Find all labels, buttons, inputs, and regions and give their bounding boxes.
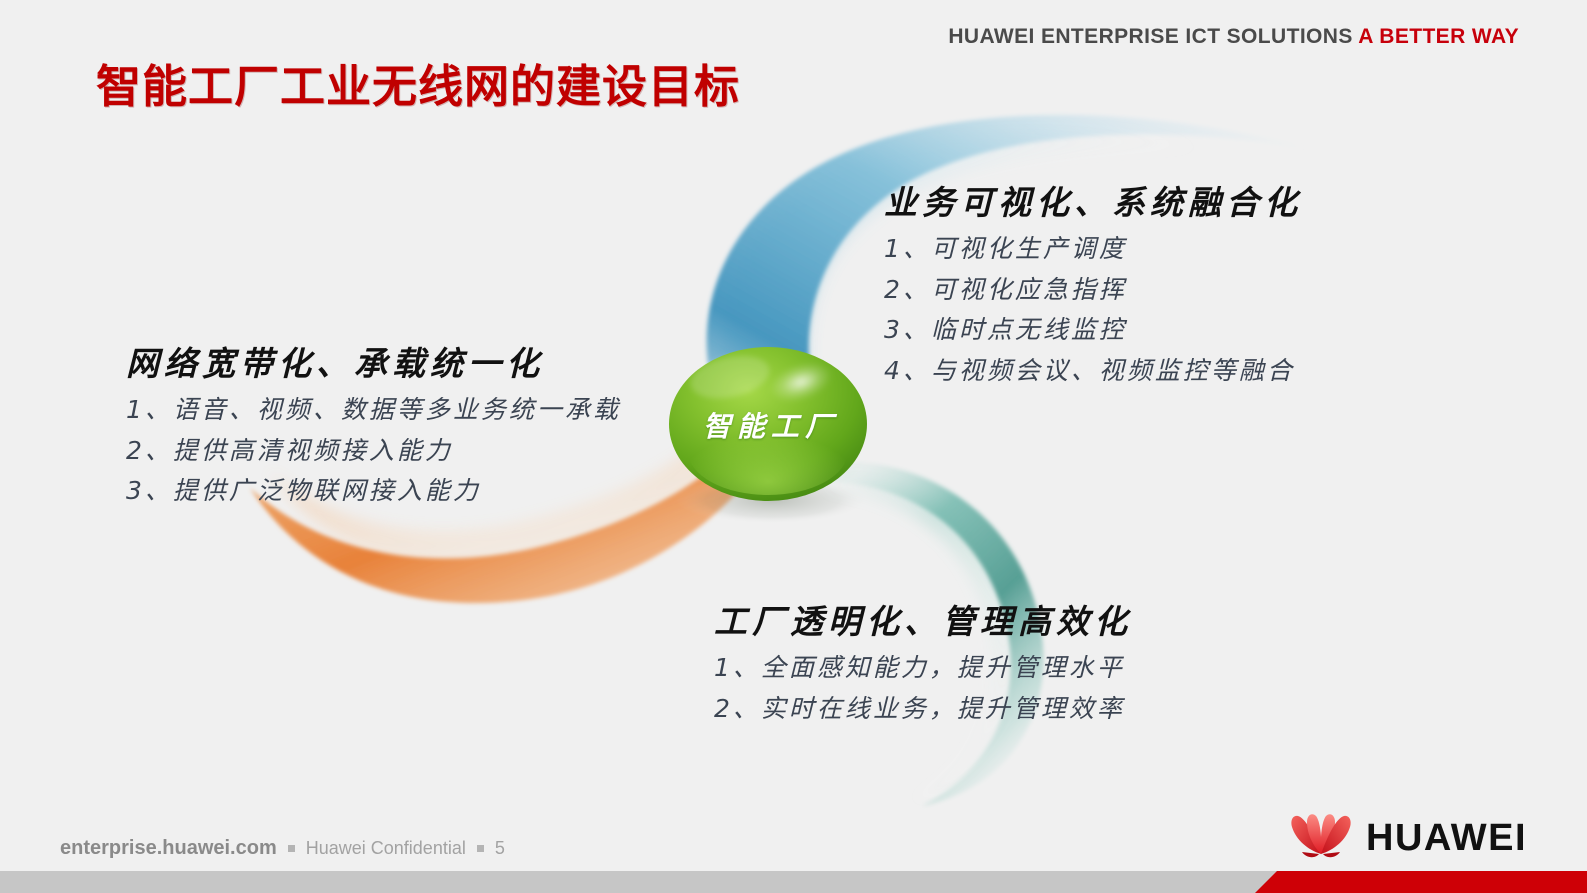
list-item: 2、可视化应急指挥 — [884, 270, 1302, 311]
bottom-bar-gray-segment — [0, 871, 1280, 893]
center-sphere: 智能工厂 — [668, 347, 868, 502]
footer-separator-icon — [288, 845, 295, 852]
block-heading: 工厂透明化、管理高效化 — [714, 601, 1132, 642]
footer-site-url: enterprise.huawei.com — [60, 837, 277, 860]
huawei-logo: HUAWEI — [1288, 810, 1527, 865]
bottom-bar-red-segment — [1255, 871, 1587, 893]
slide-canvas: HUAWEI ENTERPRISE ICT SOLUTIONS A BETTER… — [0, 0, 1587, 893]
list-item: 2、实时在线业务，提升管理效率 — [714, 689, 1132, 730]
footer-page-number: 5 — [495, 838, 505, 859]
list-item: 2、提供高清视频接入能力 — [126, 431, 621, 472]
list-item: 4、与视频会议、视频监控等融合 — [884, 351, 1302, 392]
list-item: 1、语音、视频、数据等多业务统一承载 — [126, 390, 621, 431]
block-item-list: 1、全面感知能力，提升管理水平 2、实时在线业务，提升管理效率 — [714, 648, 1132, 729]
footer-confidentiality-label: Huawei Confidential — [306, 838, 466, 859]
list-item: 3、提供广泛物联网接入能力 — [126, 471, 621, 512]
block-network-broadband: 网络宽带化、承载统一化 1、语音、视频、数据等多业务统一承载 2、提供高清视频接… — [126, 343, 621, 512]
block-business-visualization: 业务可视化、系统融合化 1、可视化生产调度 2、可视化应急指挥 3、临时点无线监… — [884, 182, 1302, 391]
list-item: 3、临时点无线监控 — [884, 310, 1302, 351]
footer: enterprise.huawei.com Huawei Confidentia… — [60, 837, 505, 860]
list-item: 1、可视化生产调度 — [884, 229, 1302, 270]
huawei-flower-icon — [1288, 810, 1354, 865]
block-item-list: 1、可视化生产调度 2、可视化应急指挥 3、临时点无线监控 4、与视频会议、视频… — [884, 229, 1302, 391]
block-heading: 业务可视化、系统融合化 — [884, 182, 1302, 223]
block-heading: 网络宽带化、承载统一化 — [126, 343, 621, 384]
block-factory-transparency: 工厂透明化、管理高效化 1、全面感知能力，提升管理水平 2、实时在线业务，提升管… — [714, 601, 1132, 729]
huawei-wordmark: HUAWEI — [1366, 819, 1527, 857]
footer-separator-icon — [477, 845, 484, 852]
list-item: 1、全面感知能力，提升管理水平 — [714, 648, 1132, 689]
bottom-bar — [0, 871, 1587, 893]
block-item-list: 1、语音、视频、数据等多业务统一承载 2、提供高清视频接入能力 3、提供广泛物联… — [126, 390, 621, 512]
